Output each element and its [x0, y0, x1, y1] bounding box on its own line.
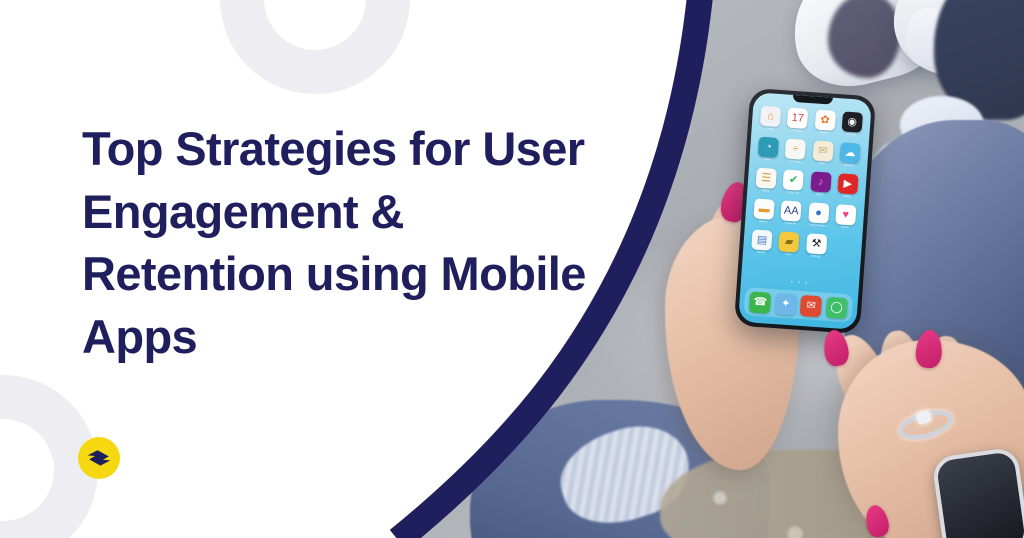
app-icon-home[interactable]: ⌂Home [759, 106, 783, 131]
app-icon-books[interactable]: ▬Books [752, 198, 776, 223]
app-glyph: ✉ [800, 294, 822, 316]
app-icon-safari[interactable]: ✦ [775, 293, 797, 315]
app-icon-camera[interactable]: ◉Camera [840, 111, 864, 136]
brand-logo[interactable] [78, 437, 120, 479]
app-glyph: ⚒ [806, 233, 827, 254]
app-glyph: ÷ [785, 139, 806, 160]
app-icon-grid[interactable]: ⌂Home17Calendar✿Photos◉Camera◔Clock÷Calc… [750, 106, 864, 261]
smartphone-device[interactable]: ⌂Home17Calendar✿Photos◉Camera◔Clock÷Calc… [734, 88, 876, 334]
app-dock[interactable]: ☎✦✉◯ [744, 287, 854, 322]
app-glyph: ⌂ [760, 106, 781, 127]
app-glyph: ☰ [756, 168, 777, 189]
app-glyph: ☎ [749, 291, 771, 313]
app-glyph: ▰ [779, 231, 800, 252]
app-icon-messages[interactable]: ◯ [825, 296, 847, 318]
app-icon-phone[interactable]: ☎ [749, 291, 771, 313]
blog-banner: ⌂Home17Calendar✿Photos◉Camera◔Clock÷Calc… [0, 0, 1024, 538]
app-icon-files[interactable]: ▰Files [777, 231, 801, 256]
app-icon-music[interactable]: ♪Music [809, 171, 833, 196]
app-icon-weather[interactable]: ☁Weather [838, 142, 862, 167]
app-glyph: ♪ [810, 171, 831, 192]
app-glyph: AA [781, 200, 802, 221]
app-glyph: ▬ [753, 198, 774, 219]
app-label: Files [777, 252, 799, 257]
app-icon-mail[interactable]: ✉ [800, 294, 822, 316]
app-label: To Do List [781, 190, 803, 195]
app-icon-health[interactable]: ♥Health [834, 204, 858, 229]
app-label: Calendar [786, 128, 808, 133]
app-glyph: ◔ [758, 137, 779, 158]
app-label: Settings [804, 254, 826, 259]
app-label: Home [759, 127, 781, 132]
app-icon-clock[interactable]: ◔Clock [756, 137, 780, 162]
app-glyph: ● [808, 202, 829, 223]
app-glyph: ▶ [837, 173, 858, 194]
app-label: Calculator [784, 159, 806, 164]
app-label: Books [752, 219, 774, 224]
app-glyph: 17 [787, 108, 808, 129]
app-label: Mail [811, 161, 833, 166]
app-glyph: ◉ [842, 111, 863, 132]
sneaker-shadow-detail [828, 0, 900, 78]
app-glyph: ✦ [775, 293, 797, 315]
app-icon-translate[interactable]: AATranslate [779, 200, 803, 225]
app-icon-settings[interactable]: ⚒Settings [804, 233, 828, 258]
page-title: Top Strategies for User Engagement & Ret… [82, 118, 592, 368]
app-glyph: ♥ [835, 204, 856, 225]
app-label: Wallet [750, 250, 772, 255]
app-glyph: ▤ [751, 229, 772, 250]
app-glyph: ☁ [839, 142, 860, 163]
app-label: Notes [754, 188, 776, 193]
app-label: Health [834, 225, 856, 230]
app-label: Music [809, 192, 831, 197]
app-icon-to-do-list[interactable]: ✔To Do List [781, 169, 805, 194]
app-label: Clock [756, 157, 778, 162]
smartphone-home-screen[interactable]: ⌂Home17Calendar✿Photos◉Camera◔Clock÷Calc… [738, 92, 872, 330]
app-icon-videos[interactable]: ▶Videos [836, 173, 860, 198]
app-icon-social-media[interactable]: ●Social Media [806, 202, 830, 227]
app-label: Weather [838, 163, 860, 168]
app-icon-notes[interactable]: ☰Notes [754, 167, 778, 192]
app-icon-mail[interactable]: ✉Mail [811, 140, 835, 165]
app-label: Social Media [806, 223, 828, 228]
app-label: Photos [813, 130, 835, 135]
app-icon-photos[interactable]: ✿Photos [813, 109, 837, 134]
app-glyph: ✉ [812, 140, 833, 161]
app-icon-calendar[interactable]: 17Calendar [786, 108, 810, 133]
app-label: Videos [836, 194, 858, 199]
brand-logo-icon [86, 449, 112, 467]
app-glyph: ✔ [783, 169, 804, 190]
app-icon-wallet[interactable]: ▤Wallet [750, 229, 774, 254]
phone-notch [793, 95, 833, 105]
app-glyph: ✿ [814, 110, 835, 131]
app-icon-calculator[interactable]: ÷Calculator [784, 138, 808, 163]
smartwatch [931, 447, 1024, 538]
app-glyph: ◯ [825, 296, 847, 318]
app-label: Translate [779, 221, 801, 226]
app-label: Camera [840, 132, 862, 137]
decor-ring-top [220, 0, 410, 94]
